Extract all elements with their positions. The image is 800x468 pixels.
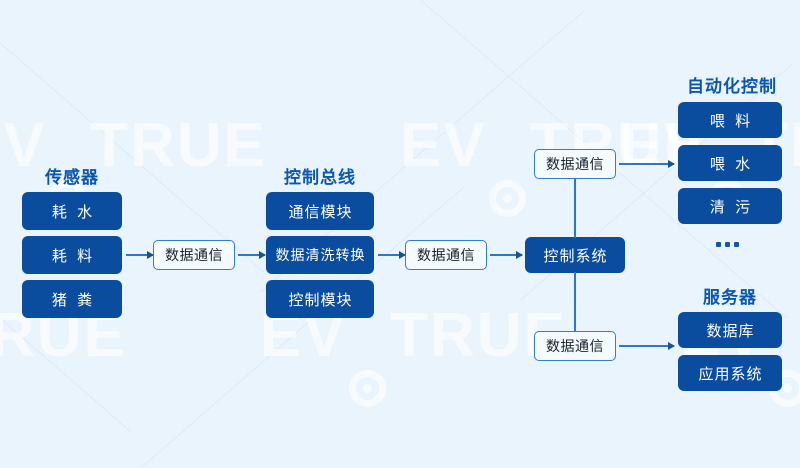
dot-icon [734, 242, 739, 247]
automation-more-indicator-icon [716, 242, 739, 247]
server-item-application-system[interactable]: 应用系统 [678, 355, 782, 391]
bus-item-data-cleaning-conversion[interactable]: 数据清洗转换 [266, 236, 374, 274]
group-title-control-bus: 控制总线 [266, 163, 374, 188]
bus-item-control-module[interactable]: 控制模块 [266, 280, 374, 318]
background-decoration: EVTRUE EVTRUE EVTRUE EVTRUE EVTRUE EVTRU… [0, 0, 800, 468]
watermark-part-ev: EV [400, 111, 487, 180]
automation-item-feeding[interactable]: 喂 料 [678, 102, 782, 138]
group-title-server: 服务器 [678, 283, 782, 308]
arrow-link2-to-control-system [490, 254, 522, 256]
dot-icon [716, 242, 721, 247]
arrow-link1-to-bus [238, 254, 265, 256]
arrow-sensors-to-link1 [126, 254, 153, 256]
sensor-item-feed[interactable]: 耗 料 [22, 236, 122, 274]
diagram-canvas: EVTRUE EVTRUE EVTRUE EVTRUE EVTRUE EVTRU… [0, 0, 800, 468]
control-system-box[interactable]: 控制系统 [525, 237, 625, 273]
server-item-database[interactable]: 数据库 [678, 312, 782, 348]
link-bus-to-system[interactable]: 数据通信 [405, 240, 487, 270]
line-system-to-lower-link [574, 272, 576, 332]
sensor-item-water[interactable]: 耗 水 [22, 192, 122, 230]
dot-icon [725, 242, 730, 247]
group-title-automation: 自动化控制 [678, 72, 786, 97]
link-system-to-server[interactable]: 数据通信 [534, 331, 616, 361]
automation-item-watering[interactable]: 喂 水 [678, 145, 782, 181]
group-title-sensors: 传感器 [22, 163, 122, 188]
sensor-item-manure[interactable]: 猪 粪 [22, 280, 122, 318]
line-system-to-upper-link [574, 178, 576, 238]
automation-item-cleaning[interactable]: 清 污 [678, 188, 782, 224]
arrow-link-to-automation [619, 163, 674, 165]
bus-item-communication-module[interactable]: 通信模块 [266, 192, 374, 230]
link-sensors-to-bus[interactable]: 数据通信 [153, 240, 235, 270]
diagonal-line [0, 0, 265, 273]
diagonal-line [0, 300, 131, 432]
arrow-bus-to-link2 [378, 254, 405, 256]
link-system-to-automation[interactable]: 数据通信 [534, 149, 616, 179]
arrow-link-to-server [619, 345, 674, 347]
